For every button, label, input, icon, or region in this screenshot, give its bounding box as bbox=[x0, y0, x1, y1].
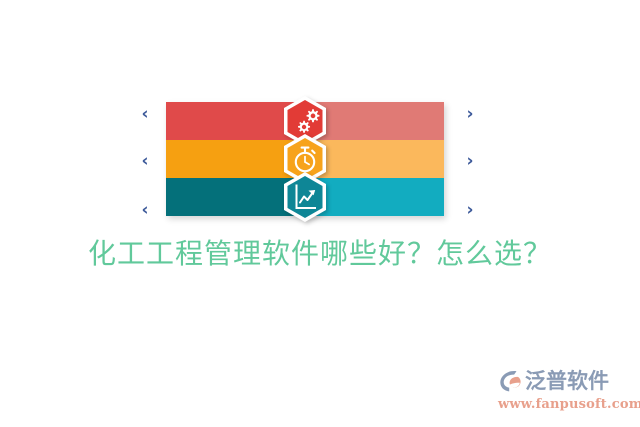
line-chart-icon[interactable] bbox=[282, 171, 328, 223]
fanpu-logo-icon bbox=[496, 367, 524, 395]
color-band-stack bbox=[166, 102, 444, 216]
nav-left-chevron-column: ‹ ‹ ‹ bbox=[130, 104, 160, 220]
page-title: 化工工程管理软件哪些好？怎么选？ bbox=[0, 232, 640, 272]
chevron-left-icon-1[interactable]: ‹ bbox=[130, 104, 160, 124]
infographic-banner: ‹ ‹ ‹ › › › bbox=[0, 0, 640, 230]
chevron-left-icon-3[interactable]: ‹ bbox=[130, 200, 160, 220]
chevron-left-icon-2[interactable]: ‹ bbox=[130, 151, 160, 171]
chevron-right-icon-2[interactable]: › bbox=[455, 151, 485, 171]
watermark-url-text: www.fanpusoft.com bbox=[498, 397, 636, 412]
watermark: 泛普软件 www.fanpusoft.com bbox=[496, 366, 636, 418]
chevron-right-icon-3[interactable]: › bbox=[455, 200, 485, 220]
chevron-right-icon-1[interactable]: › bbox=[455, 104, 485, 124]
band-row-3 bbox=[166, 178, 444, 216]
watermark-brand-text: 泛普软件 bbox=[525, 371, 609, 392]
watermark-brand-row: 泛普软件 bbox=[496, 366, 636, 396]
nav-right-chevron-column: › › › bbox=[455, 104, 485, 220]
